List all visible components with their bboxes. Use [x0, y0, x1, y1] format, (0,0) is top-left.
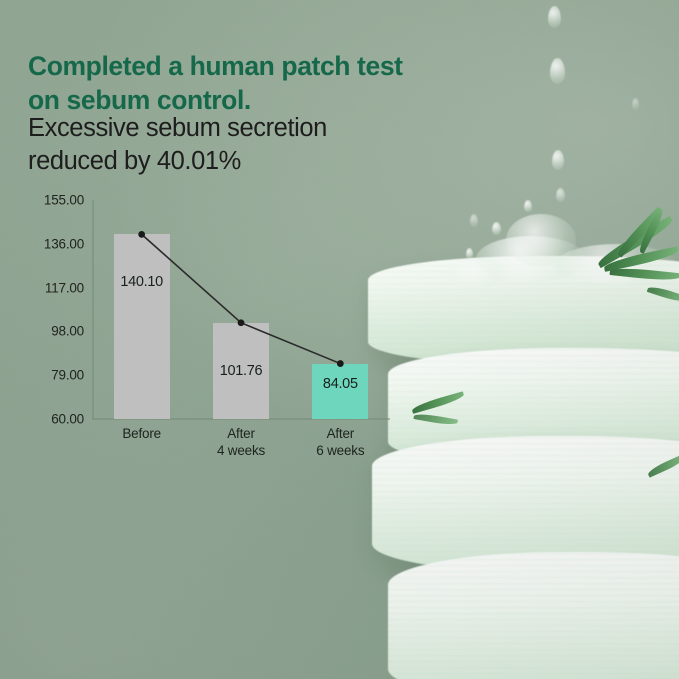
sebum-reduction-chart: 155.00136.00117.0098.0079.0060.00 140.10… — [0, 186, 420, 476]
promo-graphic: Completed a human patch test on sebum co… — [0, 0, 679, 679]
y-tick-label: 98.00 — [10, 324, 84, 339]
y-tick-label: 136.00 — [10, 236, 84, 251]
chart-bar — [114, 234, 170, 419]
page-title: Completed a human patch test on sebum co… — [28, 50, 458, 118]
page-subtitle: Excessive sebum secretion reduced by 40.… — [28, 112, 458, 178]
y-tick-label: 60.00 — [10, 412, 84, 427]
bar-value-label: 84.05 — [323, 376, 358, 392]
x-tick-label: Before — [122, 426, 161, 443]
x-tick-label: After 6 weeks — [316, 426, 364, 460]
y-tick-label: 117.00 — [10, 280, 84, 295]
chart-plot-area: 140.10101.7684.05 — [92, 200, 390, 419]
y-tick-label: 79.00 — [10, 368, 84, 383]
x-tick-label: After 4 weeks — [217, 426, 265, 460]
bar-value-label: 101.76 — [220, 363, 263, 379]
bar-value-label: 140.10 — [120, 274, 163, 290]
y-tick-label: 155.00 — [10, 193, 84, 208]
